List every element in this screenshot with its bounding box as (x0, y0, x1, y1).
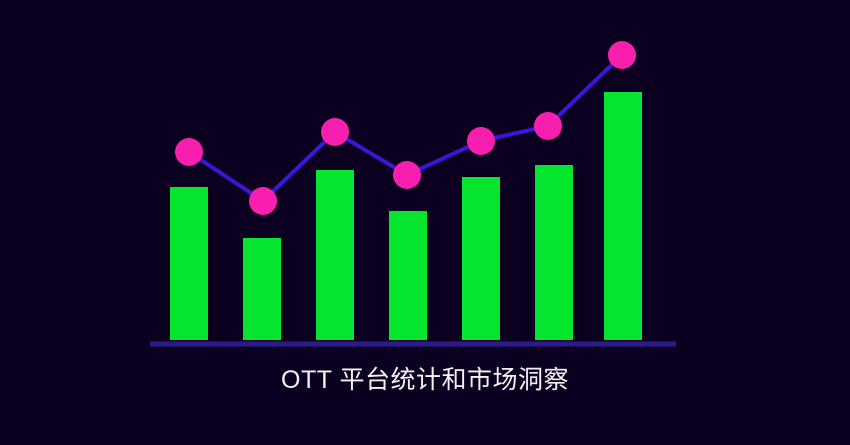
bar-group (170, 92, 642, 340)
chart-canvas: OTT 平台统计和市场洞察 (0, 0, 850, 445)
data-point-marker (534, 112, 562, 140)
data-point-marker (467, 127, 495, 155)
bar (316, 170, 354, 340)
chart-caption: OTT 平台统计和市场洞察 (0, 364, 850, 396)
data-point-marker (608, 41, 636, 69)
bar (243, 238, 281, 340)
data-point-marker (249, 187, 277, 215)
data-point-marker (393, 161, 421, 189)
bar (535, 165, 573, 340)
bar (604, 92, 642, 340)
data-point-marker (321, 118, 349, 146)
data-point-marker (175, 138, 203, 166)
bar (170, 187, 208, 340)
bar (389, 211, 427, 340)
bar (462, 177, 500, 340)
